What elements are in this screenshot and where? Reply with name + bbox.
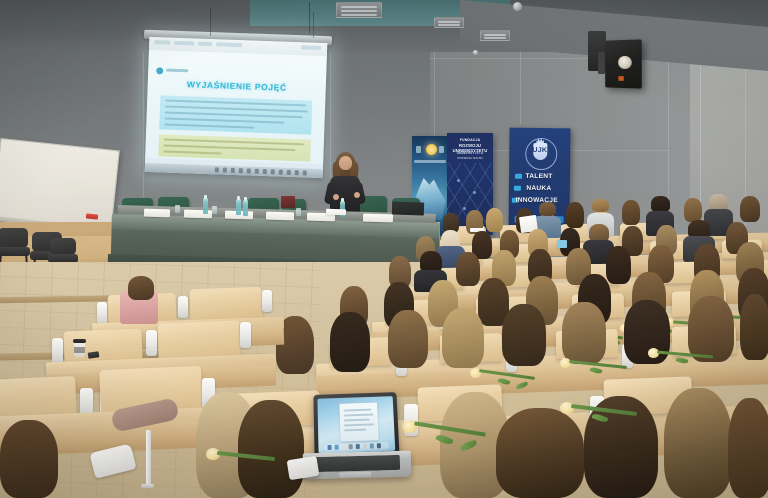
water-glass	[175, 205, 180, 213]
laptop-base	[303, 451, 412, 480]
name-card	[363, 214, 393, 223]
seat-leg	[146, 430, 151, 486]
speaker-bracket	[598, 52, 605, 74]
empty-seat-back	[189, 287, 262, 321]
foundation-header-1: FUNDACJA	[450, 138, 490, 143]
laptop-keyboard	[312, 455, 400, 472]
presenter-hand	[354, 192, 360, 198]
panel-laptop	[392, 201, 424, 215]
slide-body: WYJAŚNIENIE POJĘĆ	[145, 50, 327, 166]
slide-logo-icon	[156, 67, 163, 74]
ceiling-cable	[309, 2, 310, 34]
blue-card	[557, 240, 567, 248]
sun-icon	[426, 144, 437, 155]
laptop-screen	[317, 396, 395, 453]
ceiling-vent-icon	[336, 2, 382, 18]
presenter-head	[339, 156, 352, 170]
coffee-cup	[74, 341, 85, 357]
open-laptop-lid	[313, 392, 399, 459]
ceiling-sensor-icon	[473, 50, 478, 55]
armrest	[97, 302, 107, 324]
speaker-cone-icon	[618, 56, 632, 69]
slide-title: WYJAŚNIENIE POJĘĆ	[148, 78, 326, 94]
slide-blue-textbox	[159, 95, 312, 134]
armrest	[240, 322, 251, 348]
armrest	[178, 296, 188, 318]
water-glass	[212, 206, 217, 214]
ceiling-vent-icon	[434, 17, 464, 28]
water-glass	[296, 208, 301, 216]
slide-logo-text	[166, 69, 188, 73]
seat-foot	[141, 484, 154, 488]
screen-cord	[210, 8, 211, 36]
paper-sheet	[326, 209, 346, 216]
foundation-header-3: UNIWERSYTETU	[450, 151, 490, 156]
projection-screen: WYJAŚNIENIE POJĘĆ	[145, 37, 328, 178]
armrest	[52, 338, 63, 364]
name-card	[144, 209, 170, 218]
armrest	[262, 290, 272, 312]
ujk-line-2: NAUKA	[516, 185, 562, 192]
table-item-red	[281, 196, 295, 208]
ceiling-dome-icon	[513, 2, 522, 11]
presenter-hand	[333, 194, 339, 200]
laptop-trackpad	[339, 472, 371, 478]
speaker-led-icon	[618, 76, 624, 81]
ceiling-vent-icon	[480, 30, 510, 41]
wall-speaker	[605, 39, 642, 88]
laptop-dock	[324, 442, 389, 451]
screen-cord	[313, 12, 314, 38]
laptop-document-window	[339, 403, 378, 442]
armrest	[146, 330, 157, 356]
lecture-hall-photo: WYJAŚNIENIE POJĘĆ	[0, 0, 768, 498]
empty-seat-back	[157, 320, 240, 359]
slide-olive-textbox	[158, 134, 311, 161]
water-bottle	[203, 198, 208, 214]
foundation-header-4: ROZWOJU NAUKI	[450, 156, 490, 161]
water-bottle	[236, 199, 241, 215]
ujk-line-1: TALENT	[516, 173, 562, 180]
ujk-crest-letters: UJK	[525, 147, 555, 154]
cup-lid-icon	[73, 339, 86, 343]
ujk-crest-icon: UJK	[525, 136, 555, 170]
name-card	[266, 212, 294, 221]
whiteboard	[0, 138, 120, 230]
water-bottle	[243, 200, 248, 216]
cup-sleeve	[74, 347, 85, 353]
